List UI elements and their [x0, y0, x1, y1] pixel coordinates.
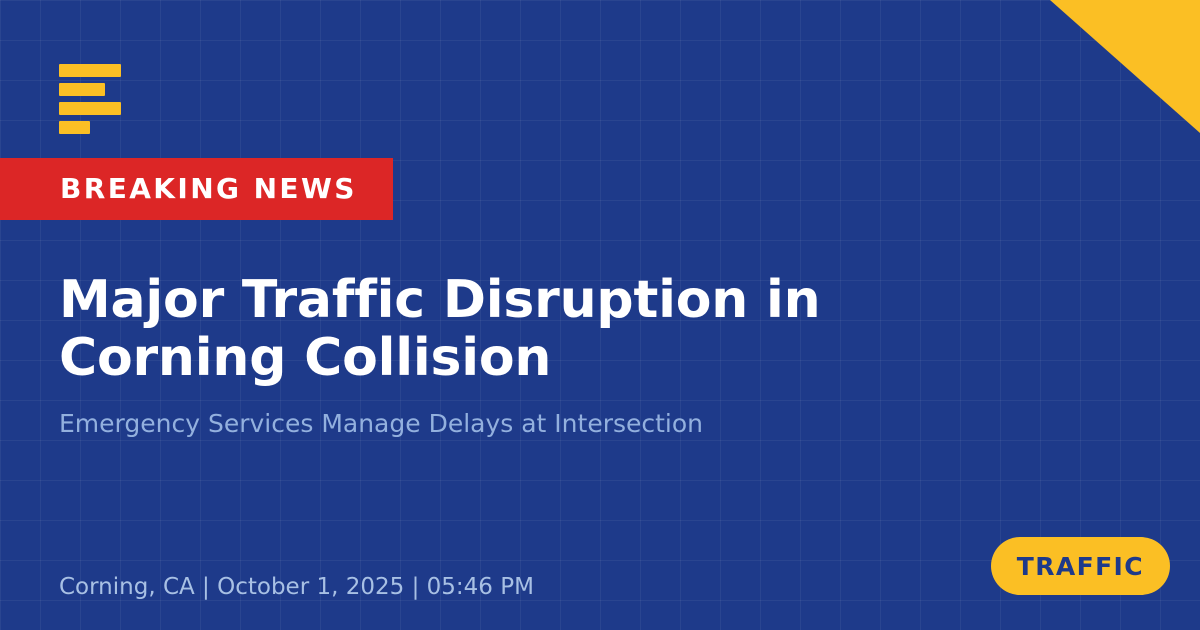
logo-bar-3: [59, 102, 121, 115]
brand-logo: [59, 64, 121, 134]
breaking-news-label: BREAKING NEWS: [60, 175, 357, 203]
category-badge-label: TRAFFIC: [1017, 554, 1144, 579]
logo-bar-4: [59, 121, 90, 134]
headline: Major Traffic Disruption in Corning Coll…: [59, 271, 1059, 387]
category-badge: TRAFFIC: [991, 537, 1170, 595]
breaking-news-banner: BREAKING NEWS: [0, 158, 393, 220]
subheadline: Emergency Services Manage Delays at Inte…: [59, 408, 959, 439]
logo-bar-2: [59, 83, 105, 96]
breaking-news-card: BREAKING NEWS Major Traffic Disruption i…: [0, 0, 1200, 630]
corner-wedge-accent: [1050, 0, 1200, 133]
logo-bar-1: [59, 64, 121, 77]
footer-meta: Corning, CA | October 1, 2025 | 05:46 PM: [59, 574, 534, 602]
